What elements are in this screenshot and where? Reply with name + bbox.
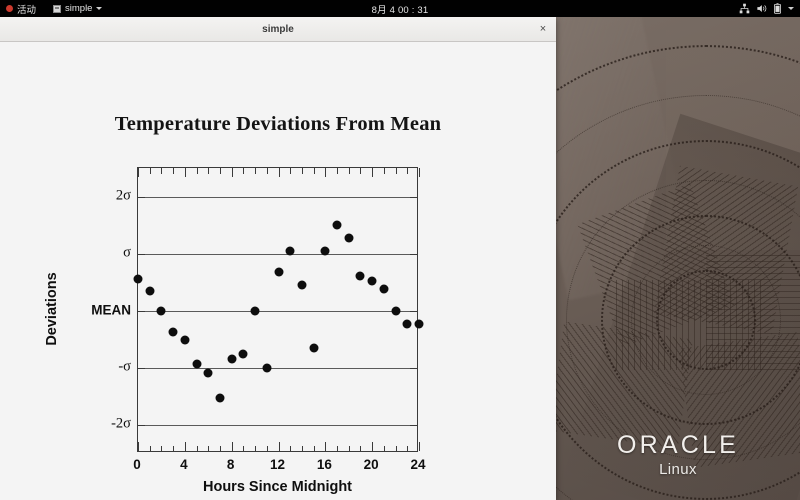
system-status-area[interactable]	[739, 3, 800, 14]
x-axis-tick	[150, 168, 151, 174]
x-axis-tick	[279, 168, 280, 177]
y-tick-label: 2σ	[116, 187, 131, 204]
chart-title: Temperature Deviations From Mean	[0, 113, 556, 136]
x-axis-tick	[208, 168, 209, 174]
y-tick-label: σ	[123, 244, 131, 261]
x-axis-tick	[372, 442, 373, 451]
data-point	[180, 336, 189, 345]
x-axis-tick	[302, 168, 303, 174]
clock-label[interactable]: 8月 4 00 : 31	[372, 2, 429, 16]
y-axis-tick	[138, 368, 145, 369]
data-point	[286, 247, 295, 256]
x-axis-tick	[372, 168, 373, 177]
plot-frame	[137, 167, 418, 452]
data-point	[204, 369, 213, 378]
data-point	[215, 393, 224, 402]
x-axis-tick	[243, 168, 244, 174]
x-axis-tick	[302, 446, 303, 452]
data-point	[403, 319, 412, 328]
x-axis-tick	[197, 168, 198, 174]
x-axis-tick	[255, 168, 256, 174]
data-point	[321, 247, 330, 256]
y-axis-tick	[410, 254, 417, 255]
x-axis-tick	[314, 168, 315, 174]
x-tick-label: 20	[364, 457, 379, 472]
x-axis-tick	[349, 168, 350, 174]
y-axis-tick	[410, 311, 417, 312]
x-axis-title: Hours Since Midnight	[137, 479, 418, 495]
y-axis-title: Deviations	[44, 272, 60, 345]
grid-line	[138, 254, 417, 255]
x-axis-tick	[232, 442, 233, 451]
plot-canvas: Temperature Deviations From Mean Deviati…	[0, 42, 556, 500]
x-axis-tick	[407, 446, 408, 452]
data-point	[344, 233, 353, 242]
data-point	[251, 306, 260, 315]
x-axis-tick	[407, 168, 408, 174]
data-point	[192, 359, 201, 368]
grid-line	[138, 311, 417, 312]
x-axis-tick	[325, 442, 326, 451]
data-point	[227, 354, 236, 363]
x-axis-tick	[314, 446, 315, 452]
x-axis-tick	[161, 446, 162, 452]
x-axis-tick	[279, 442, 280, 451]
gnome-top-bar: 活动 simple 8月 4 00 : 31	[0, 0, 800, 17]
x-axis-tick	[337, 446, 338, 452]
oracle-linux-wallpaper: ORACLE Linux	[556, 0, 800, 500]
data-point	[169, 328, 178, 337]
grid-line	[138, 197, 417, 198]
battery-icon	[773, 3, 782, 14]
activities-label: 活动	[17, 2, 36, 16]
oracle-linux-logo: ORACLE Linux	[556, 431, 800, 478]
network-icon	[739, 3, 750, 14]
x-axis-tick	[290, 168, 291, 174]
y-axis-tick-labels: 2σσMEAN-σ-2σ	[60, 167, 131, 452]
app-menu-button[interactable]: simple	[53, 3, 102, 14]
x-tick-label: 4	[180, 457, 188, 472]
x-axis-tick	[255, 446, 256, 452]
data-point	[356, 271, 365, 280]
x-axis-tick	[138, 442, 139, 451]
grid-line	[138, 368, 417, 369]
data-point	[297, 280, 306, 289]
x-axis-tick	[384, 168, 385, 174]
x-axis-tick	[220, 446, 221, 452]
close-icon[interactable]: ×	[536, 22, 550, 36]
x-axis-tick	[185, 442, 186, 451]
x-axis-tick	[150, 446, 151, 452]
data-point	[262, 363, 271, 372]
x-tick-label: 0	[133, 457, 141, 472]
y-tick-label: -σ	[118, 358, 131, 375]
x-axis-tick	[267, 168, 268, 174]
data-point	[309, 344, 318, 353]
y-tick-label: MEAN	[91, 302, 131, 317]
x-axis-tick	[138, 168, 139, 177]
x-tick-label: 24	[410, 457, 425, 472]
x-axis-tick	[220, 168, 221, 174]
x-axis-tick	[173, 168, 174, 174]
x-axis-tick	[419, 442, 420, 451]
y-axis-tick	[410, 368, 417, 369]
data-point	[415, 319, 424, 328]
scatter-plot: Temperature Deviations From Mean Deviati…	[0, 42, 556, 500]
x-axis-tick	[396, 168, 397, 174]
data-point	[368, 276, 377, 285]
x-axis-tick	[208, 446, 209, 452]
data-point	[145, 287, 154, 296]
x-axis-tick	[161, 168, 162, 174]
x-axis-tick	[396, 446, 397, 452]
data-point	[239, 350, 248, 359]
x-axis-tick	[349, 446, 350, 452]
data-point	[274, 267, 283, 276]
y-axis-tick	[410, 425, 417, 426]
oracle-wordmark: ORACLE	[556, 431, 800, 460]
x-axis-tick	[185, 168, 186, 177]
chevron-down-icon[interactable]	[788, 7, 794, 10]
x-axis-tick	[173, 446, 174, 452]
x-axis-tick	[290, 446, 291, 452]
chevron-down-icon	[96, 7, 102, 10]
application-window-icon	[53, 5, 61, 13]
y-tick-label: -2σ	[111, 415, 131, 432]
grid-line	[138, 425, 417, 426]
application-window: simple × Temperature Deviations From Mea…	[0, 17, 556, 500]
x-axis-tick	[360, 446, 361, 452]
data-point	[333, 221, 342, 230]
y-axis-tick	[138, 425, 145, 426]
y-axis-tick	[138, 254, 145, 255]
x-tick-label: 12	[270, 457, 285, 472]
x-axis-tick	[197, 446, 198, 452]
x-axis-tick	[384, 446, 385, 452]
x-axis-tick	[267, 446, 268, 452]
x-axis-tick	[419, 168, 420, 177]
x-axis-tick	[360, 168, 361, 174]
window-title: simple	[262, 24, 294, 35]
y-axis-tick	[138, 197, 145, 198]
data-point	[391, 306, 400, 315]
data-point	[379, 284, 388, 293]
x-tick-label: 8	[227, 457, 235, 472]
activities-button[interactable]: 活动	[6, 2, 36, 16]
x-tick-label: 16	[317, 457, 332, 472]
data-point	[157, 306, 166, 315]
window-title-bar[interactable]: simple ×	[0, 17, 556, 42]
clock-area: 8月 4 00 : 31	[0, 2, 800, 16]
linux-subtitle: Linux	[556, 461, 800, 478]
x-axis-tick	[325, 168, 326, 177]
data-point	[134, 275, 143, 284]
y-axis-tick	[138, 311, 145, 312]
x-axis-tick	[232, 168, 233, 177]
x-axis-tick	[337, 168, 338, 174]
volume-icon	[756, 3, 767, 14]
y-axis-tick	[410, 197, 417, 198]
app-menu-label: simple	[65, 3, 92, 14]
x-axis-tick	[243, 446, 244, 452]
activities-indicator-icon	[6, 5, 13, 12]
